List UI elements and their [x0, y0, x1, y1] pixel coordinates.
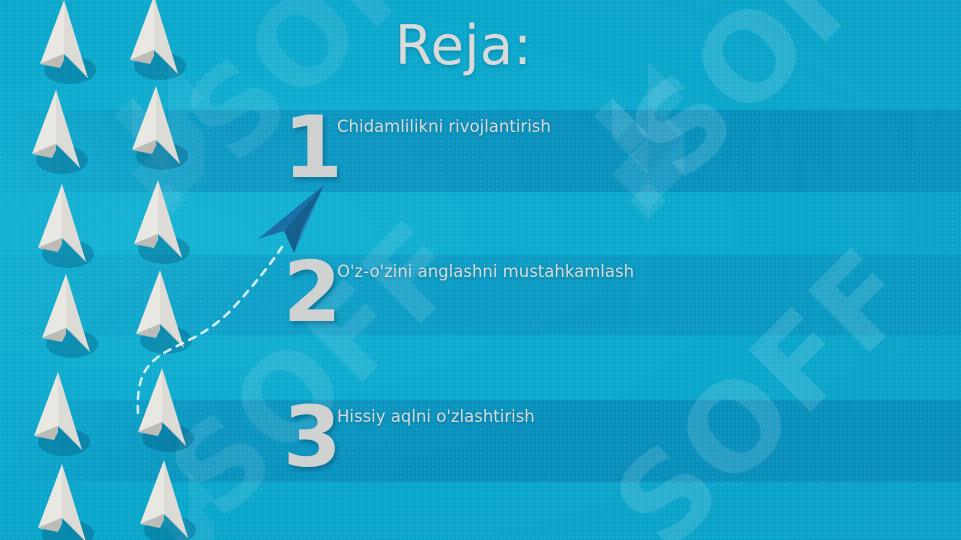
white-paper-plane-icon — [120, 0, 194, 86]
white-paper-plane-icon — [24, 370, 98, 462]
white-paper-plane-icon — [30, 0, 104, 90]
white-paper-plane-icon — [28, 462, 102, 540]
page-title: Reja: — [395, 14, 532, 77]
list-item-number: 2 — [283, 250, 341, 334]
watermark-soff-top-right: SOFF — [604, 0, 957, 206]
list-item-number: 3 — [283, 395, 341, 479]
white-paper-plane-icon — [128, 366, 202, 458]
white-paper-plane-icon — [130, 458, 204, 540]
list-item-number: 1 — [283, 105, 343, 191]
white-paper-plane-icon — [22, 88, 96, 180]
list-item-label: O'z-o'zini anglashni mustahkamlash — [337, 262, 634, 281]
white-paper-plane-icon — [122, 84, 196, 176]
watermark-soff-bottom-right: SOFF — [589, 223, 942, 540]
white-paper-plane-icon — [124, 178, 198, 270]
white-paper-plane-icon — [28, 182, 102, 274]
list-item-label: Chidamlilikni rivojlantirish — [337, 117, 551, 136]
white-paper-plane-icon — [32, 272, 106, 364]
white-paper-plane-icon — [126, 268, 200, 360]
soff-diamond-logo-icon — [592, 58, 704, 223]
paper-plane-column-group — [0, 0, 230, 540]
list-item-label: Hissiy aqlni o'zlashtirish — [337, 407, 535, 426]
presentation-slide: SOFF SOFF SOFF SOFF Reja: 1 Chidamlilikn… — [0, 0, 961, 540]
